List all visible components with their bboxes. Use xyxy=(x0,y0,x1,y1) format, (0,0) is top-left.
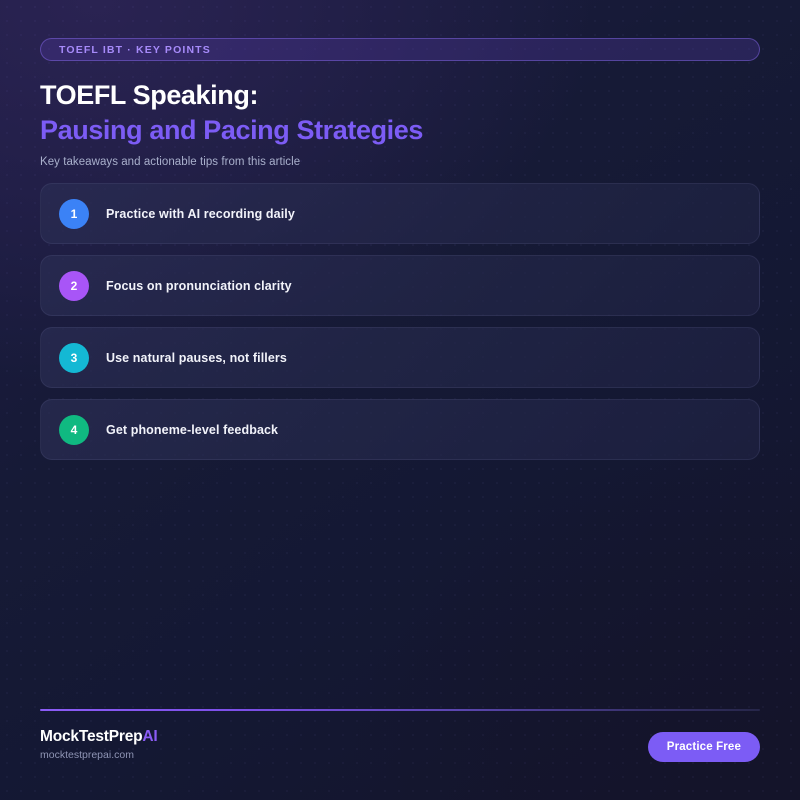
key-point-number-badge: 4 xyxy=(59,415,89,445)
page-subtitle: Key takeaways and actionable tips from t… xyxy=(40,156,760,168)
key-point-number-badge: 3 xyxy=(59,343,89,373)
eyebrow-pill: TOEFL IBT · KEY POINTS xyxy=(40,38,760,61)
poster-canvas: TOEFL IBT · KEY POINTS TOEFL Speaking: P… xyxy=(0,0,800,800)
practice-free-button[interactable]: Practice Free xyxy=(648,732,760,762)
page-title-line2: Pausing and Pacing Strategies xyxy=(40,113,760,148)
key-point-card[interactable]: 2Focus on pronunciation clarity xyxy=(40,255,760,316)
key-point-card[interactable]: 4Get phoneme-level feedback xyxy=(40,399,760,460)
key-point-text: Get phoneme-level feedback xyxy=(106,423,278,437)
brand-name: MockTestPrep xyxy=(40,728,142,745)
key-point-text: Use natural pauses, not fillers xyxy=(106,351,287,365)
eyebrow-label: TOEFL IBT · KEY POINTS xyxy=(41,44,211,56)
key-point-card[interactable]: 1Practice with AI recording daily xyxy=(40,183,760,244)
heading-block: TOEFL Speaking: Pausing and Pacing Strat… xyxy=(40,78,760,168)
key-point-text: Practice with AI recording daily xyxy=(106,207,295,221)
brand-accent: AI xyxy=(142,728,157,745)
key-point-card[interactable]: 3Use natural pauses, not fillers xyxy=(40,327,760,388)
page-title-line1: TOEFL Speaking: xyxy=(40,78,760,113)
footer: MockTestPrepAI mocktestprepai.com Practi… xyxy=(40,728,760,774)
key-point-number-badge: 2 xyxy=(59,271,89,301)
footer-divider xyxy=(40,709,760,711)
key-point-text: Focus on pronunciation clarity xyxy=(106,279,292,293)
key-point-number-badge: 1 xyxy=(59,199,89,229)
key-points-list: 1Practice with AI recording daily2Focus … xyxy=(40,183,760,471)
